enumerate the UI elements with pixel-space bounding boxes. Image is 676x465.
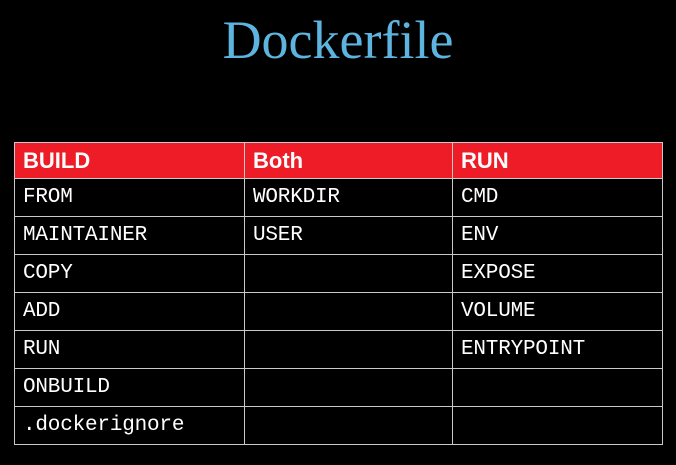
cell-both <box>245 369 453 407</box>
table-row: ONBUILD <box>15 369 663 407</box>
cell-both: USER <box>245 217 453 255</box>
cell-run <box>453 407 663 445</box>
column-header-both: Both <box>245 143 453 179</box>
column-header-run: RUN <box>453 143 663 179</box>
cell-run: VOLUME <box>453 293 663 331</box>
cell-run: ENTRYPOINT <box>453 331 663 369</box>
table-body: FROM WORKDIR CMD MAINTAINER USER ENV COP… <box>15 179 663 445</box>
cell-run: EXPOSE <box>453 255 663 293</box>
cell-run: ENV <box>453 217 663 255</box>
table-row: MAINTAINER USER ENV <box>15 217 663 255</box>
page-title: Dockerfile <box>0 8 676 72</box>
cell-both <box>245 407 453 445</box>
table-row: ADD VOLUME <box>15 293 663 331</box>
table-row: .dockerignore <box>15 407 663 445</box>
cell-build: FROM <box>15 179 245 217</box>
slide-root: Dockerfile BUILD Both RUN FROM WORKDIR C… <box>0 0 676 465</box>
column-header-build: BUILD <box>15 143 245 179</box>
cell-build: RUN <box>15 331 245 369</box>
cell-build: ONBUILD <box>15 369 245 407</box>
cell-build: COPY <box>15 255 245 293</box>
cell-both <box>245 331 453 369</box>
cell-build: .dockerignore <box>15 407 245 445</box>
table-header-row: BUILD Both RUN <box>15 143 663 179</box>
table-row: RUN ENTRYPOINT <box>15 331 663 369</box>
cell-build: ADD <box>15 293 245 331</box>
dockerfile-instructions-table: BUILD Both RUN FROM WORKDIR CMD MAINTAIN… <box>14 142 663 445</box>
cell-run <box>453 369 663 407</box>
cell-both <box>245 293 453 331</box>
dockerfile-instructions-table-container: BUILD Both RUN FROM WORKDIR CMD MAINTAIN… <box>14 142 662 445</box>
table-header: BUILD Both RUN <box>15 143 663 179</box>
cell-build: MAINTAINER <box>15 217 245 255</box>
table-row: FROM WORKDIR CMD <box>15 179 663 217</box>
cell-run: CMD <box>453 179 663 217</box>
cell-both: WORKDIR <box>245 179 453 217</box>
table-row: COPY EXPOSE <box>15 255 663 293</box>
cell-both <box>245 255 453 293</box>
